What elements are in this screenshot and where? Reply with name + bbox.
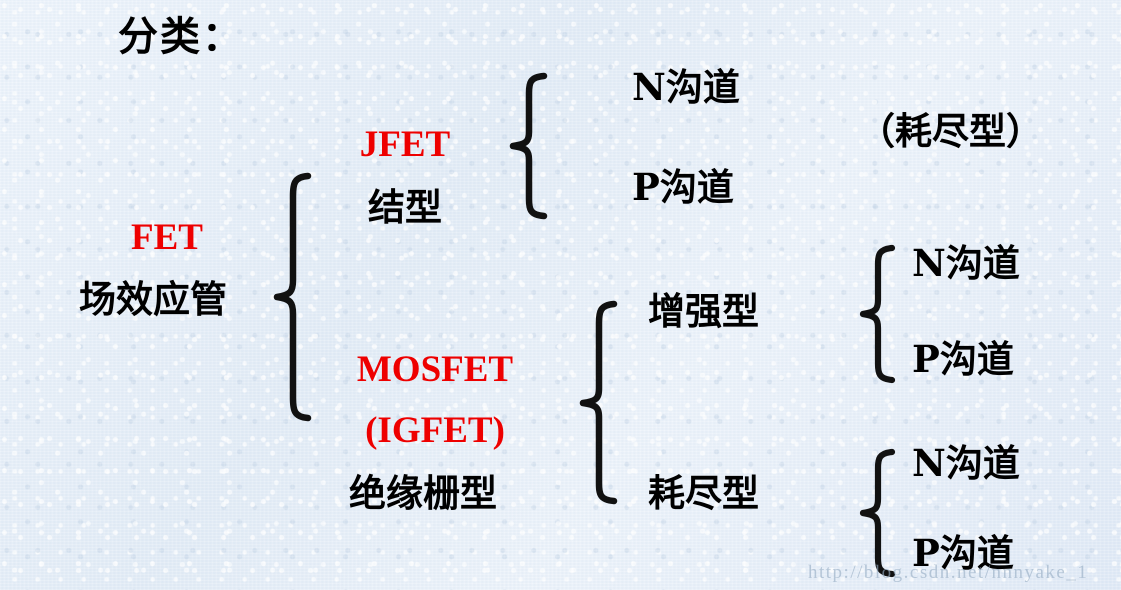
enhancement-channel-n: N沟道 [912,244,1020,283]
depletion-channel-n: N沟道 [912,444,1020,483]
page-title: 分类： [118,16,244,58]
mosfet-mode-depletion: 耗尽型 [648,474,759,513]
brace-depletion [858,448,902,578]
jfet-abbr: JFET [330,125,480,164]
jfet-channel-n: N沟道 [632,68,740,107]
brace-jfet [508,72,554,220]
enhancement-channel-p: P沟道 [912,340,1014,379]
brace-enhancement [858,244,902,384]
watermark-url: http://blog.csdn.net/nnnyake_1 [808,562,1088,584]
jfet-note-depletion: （耗尽型） [858,112,1043,151]
brace-mosfet [578,300,624,506]
slide-canvas: 分类： FET 场效应管 JFET 结型 N沟道 P沟道 （耗尽型） MOSFE… [0,0,1121,590]
mosfet-name: 绝缘栅型 [308,474,538,513]
root-abbr-fet: FET [92,218,242,257]
root-name-fet: 场效应管 [38,280,268,319]
mosfet-abbr: MOSFET [320,350,550,389]
mosfet-abbr-alt: (IGFET) [320,411,550,450]
jfet-name: 结型 [330,188,480,227]
brace-root [272,172,318,422]
mosfet-mode-enhancement: 增强型 [648,292,759,331]
jfet-channel-p: P沟道 [632,168,734,207]
